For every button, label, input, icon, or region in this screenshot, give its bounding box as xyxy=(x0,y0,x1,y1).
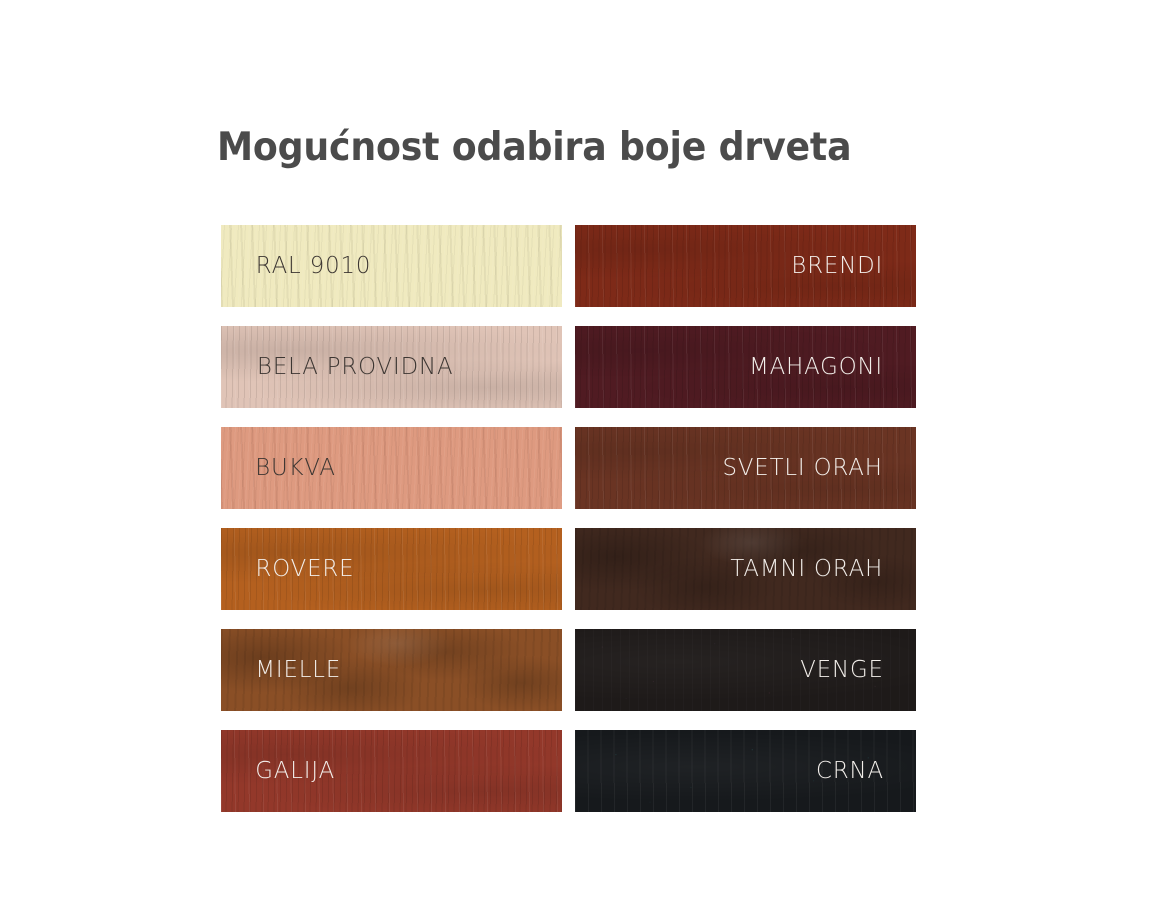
swatch-label: VENGE xyxy=(800,658,883,682)
swatch-label: MAHAGONI xyxy=(749,355,883,379)
swatch-bukva[interactable]: BUKVA xyxy=(221,427,562,509)
swatch-tamni-orah[interactable]: TAMNI ORAH xyxy=(575,528,916,610)
swatch-ral-9010[interactable]: RAL 9010 xyxy=(221,225,562,307)
swatch-label: BUKVA xyxy=(255,456,336,480)
swatch-label: CRNA xyxy=(816,759,884,783)
swatch-venge[interactable]: VENGE xyxy=(575,629,916,711)
wood-color-swatch-grid: RAL 9010BRENDIBELA PROVIDNAMAHAGONIBUKVA… xyxy=(221,225,916,812)
swatch-label: ROVERE xyxy=(256,557,355,581)
page-title: Mogućnost odabira boje drveta xyxy=(217,122,851,174)
swatch-galija[interactable]: GALIJA xyxy=(221,730,562,812)
swatch-crna[interactable]: CRNA xyxy=(575,730,916,812)
swatch-label: MIELLE xyxy=(255,658,341,682)
swatch-svetli-orah[interactable]: SVETLI ORAH xyxy=(575,427,916,509)
swatch-mahagoni[interactable]: MAHAGONI xyxy=(575,326,916,408)
swatch-brendi[interactable]: BRENDI xyxy=(575,225,916,307)
swatch-label: SVETLI ORAH xyxy=(722,456,882,480)
swatch-rovere[interactable]: ROVERE xyxy=(221,528,562,610)
swatch-label: TAMNI ORAH xyxy=(730,557,883,581)
swatch-label: BELA PROVIDNA xyxy=(257,355,453,379)
swatch-label: GALIJA xyxy=(255,759,335,783)
swatch-label: RAL 9010 xyxy=(256,254,371,278)
swatch-bela-providna[interactable]: BELA PROVIDNA xyxy=(221,326,562,408)
swatch-mielle[interactable]: MIELLE xyxy=(221,629,562,711)
swatch-label: BRENDI xyxy=(792,254,884,278)
